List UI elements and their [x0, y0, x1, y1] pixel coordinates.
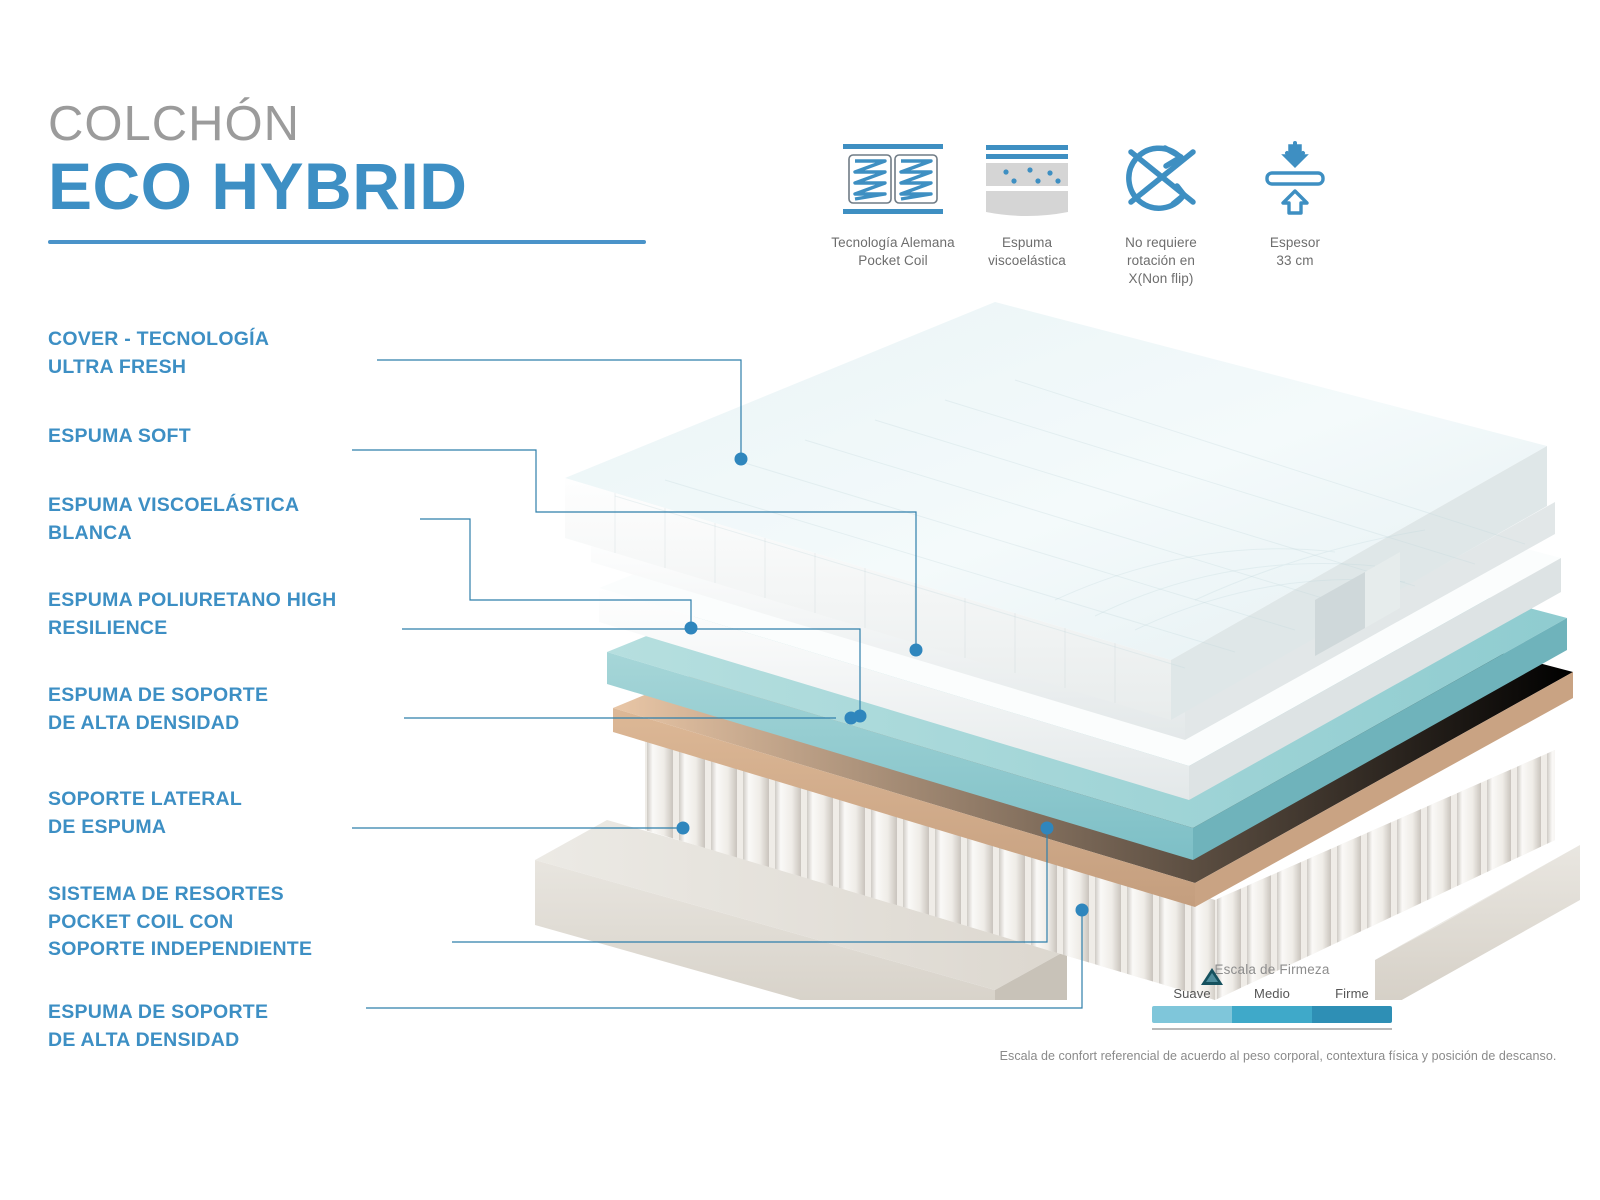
no-flip-icon — [1121, 136, 1201, 222]
feature-label: Espumaviscoelástica — [988, 234, 1066, 270]
pocket-coil-icon — [841, 136, 945, 222]
layer-label-visco: ESPUMA VISCOELÁSTICABLANCA — [48, 492, 299, 547]
feature-no-flip: No requiererotación enX(Non flip) — [1094, 136, 1228, 287]
firmness-segment-firme — [1312, 1006, 1392, 1023]
thickness-icon — [1263, 136, 1327, 222]
firmness-tick-medio: Medio — [1232, 986, 1312, 1001]
title-top-line: COLCHÓN — [48, 100, 668, 150]
visco-foam-icon — [984, 136, 1070, 222]
feature-icon-row: Tecnología AlemanaPocket Coil Espumavisc… — [826, 136, 1362, 287]
title-underline — [48, 240, 646, 244]
firmness-bar — [1152, 1006, 1392, 1023]
layer-label-side: SOPORTE LATERALDE ESPUMA — [48, 786, 242, 841]
layer-label-cover: COVER - TECNOLOGÍAULTRA FRESH — [48, 326, 269, 381]
firmness-title: Escala de Firmeza — [1152, 962, 1392, 977]
feature-label: Espesor33 cm — [1270, 234, 1320, 270]
firmness-tick-firme: Firme — [1312, 986, 1392, 1001]
feature-label: Tecnología AlemanaPocket Coil — [831, 234, 954, 270]
layer-label-density-bot: ESPUMA DE SOPORTEDE ALTA DENSIDAD — [48, 999, 268, 1054]
layer-label-soft: ESPUMA SOFT — [48, 423, 191, 451]
page-title: COLCHÓN ECO HYBRID — [48, 100, 668, 244]
layer-label-density-top: ESPUMA DE SOPORTEDE ALTA DENSIDAD — [48, 682, 268, 737]
feature-pocket-coil: Tecnología AlemanaPocket Coil — [826, 136, 960, 287]
infographic-canvas: COLCHÓN ECO HYBRID Tecnología AlemanaPoc… — [0, 0, 1600, 1200]
firmness-scale: Escala de Firmeza Suave Medio Firme — [1152, 962, 1392, 1030]
layer-label-coils: SISTEMA DE RESORTESPOCKET COIL CONSOPORT… — [48, 881, 312, 964]
feature-visco-foam: Espumaviscoelástica — [960, 136, 1094, 287]
feature-label: No requiererotación enX(Non flip) — [1125, 234, 1197, 287]
feature-thickness: Espesor33 cm — [1228, 136, 1362, 287]
firmness-disclaimer: Escala de confort referencial de acuerdo… — [998, 1049, 1558, 1063]
firmness-marker-inner — [1206, 973, 1218, 982]
firmness-tick-suave: Suave — [1152, 986, 1232, 1001]
title-main-line: ECO HYBRID — [48, 152, 668, 221]
firmness-segment-medio — [1232, 1006, 1312, 1023]
firmness-tick-labels: Suave Medio Firme — [1152, 986, 1392, 1001]
layer-label-hr: ESPUMA POLIURETANO HIGHRESILIENCE — [48, 587, 337, 642]
firmness-baseline — [1152, 1028, 1392, 1030]
firmness-segment-suave — [1152, 1006, 1232, 1023]
mattress-exploded-illustration — [495, 300, 1585, 1000]
